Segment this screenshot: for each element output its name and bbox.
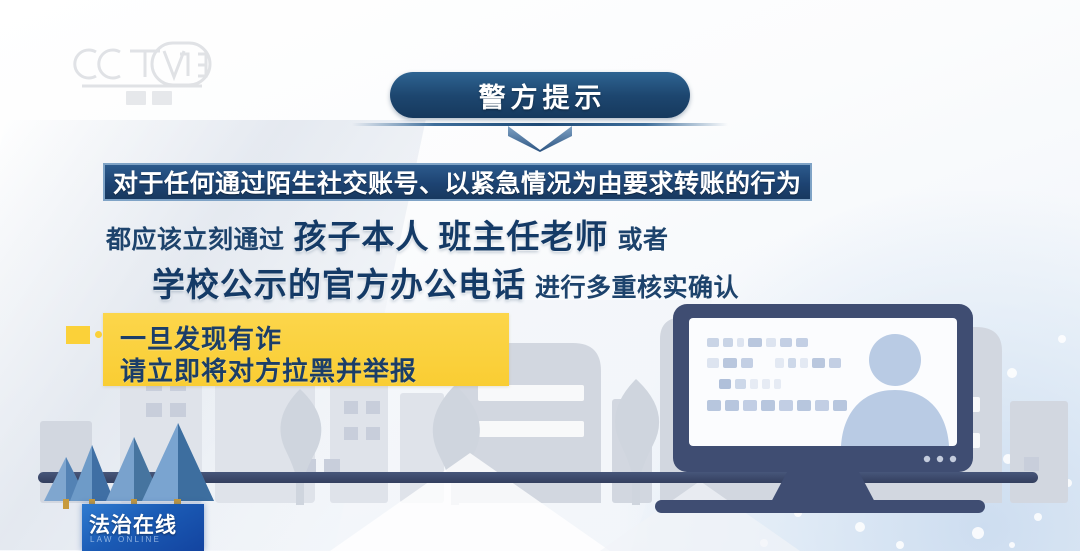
program-logo: 法治在线 LAW ONLINE: [82, 504, 204, 551]
bullet-dot-icon: [95, 331, 102, 338]
desktop-monitor-icon: [655, 300, 1045, 520]
square-bullet-icon: [66, 326, 90, 344]
callout-line-2: 请立即将对方拉黑并举报: [120, 351, 417, 388]
message-line-1: 对于任何通过陌生社交账号、以紧急情况为由要求转账的行为: [103, 163, 812, 201]
chevron-down-icon: [506, 124, 574, 154]
program-logo-subtitle: LAW ONLINE: [90, 535, 161, 544]
message-line-2-emphasis-a: 孩子本人: [294, 210, 430, 258]
message-line-2: 都应该立刻通过 孩子本人 班主任老师 或者: [106, 210, 669, 258]
page-title: 警方提示: [390, 72, 690, 118]
message-line-3-suffix: 进行多重核实确认: [535, 268, 739, 304]
message-line-2-prefix: 都应该立刻通过: [106, 220, 285, 256]
message-line-3-emphasis: 学校公示的官方办公电话: [152, 258, 526, 306]
warning-callout: 一旦发现有诈 请立即将对方拉黑并举报: [103, 313, 509, 386]
monitor-indicator-dots: [924, 456, 956, 462]
message-line-2-suffix: 或者: [618, 220, 669, 256]
broadcast-frame: 警方提示 对于任何通过陌生社交账号、以紧急情况为由要求转账的行为 都应该立刻通过…: [0, 0, 1080, 551]
message-line-2-emphasis-b: 班主任老师: [439, 210, 609, 258]
police-tip-header: 警方提示: [0, 72, 1080, 118]
message-line-3: 学校公示的官方办公电话 进行多重核实确认: [152, 258, 739, 306]
pine-trees-icon: [30, 401, 230, 511]
